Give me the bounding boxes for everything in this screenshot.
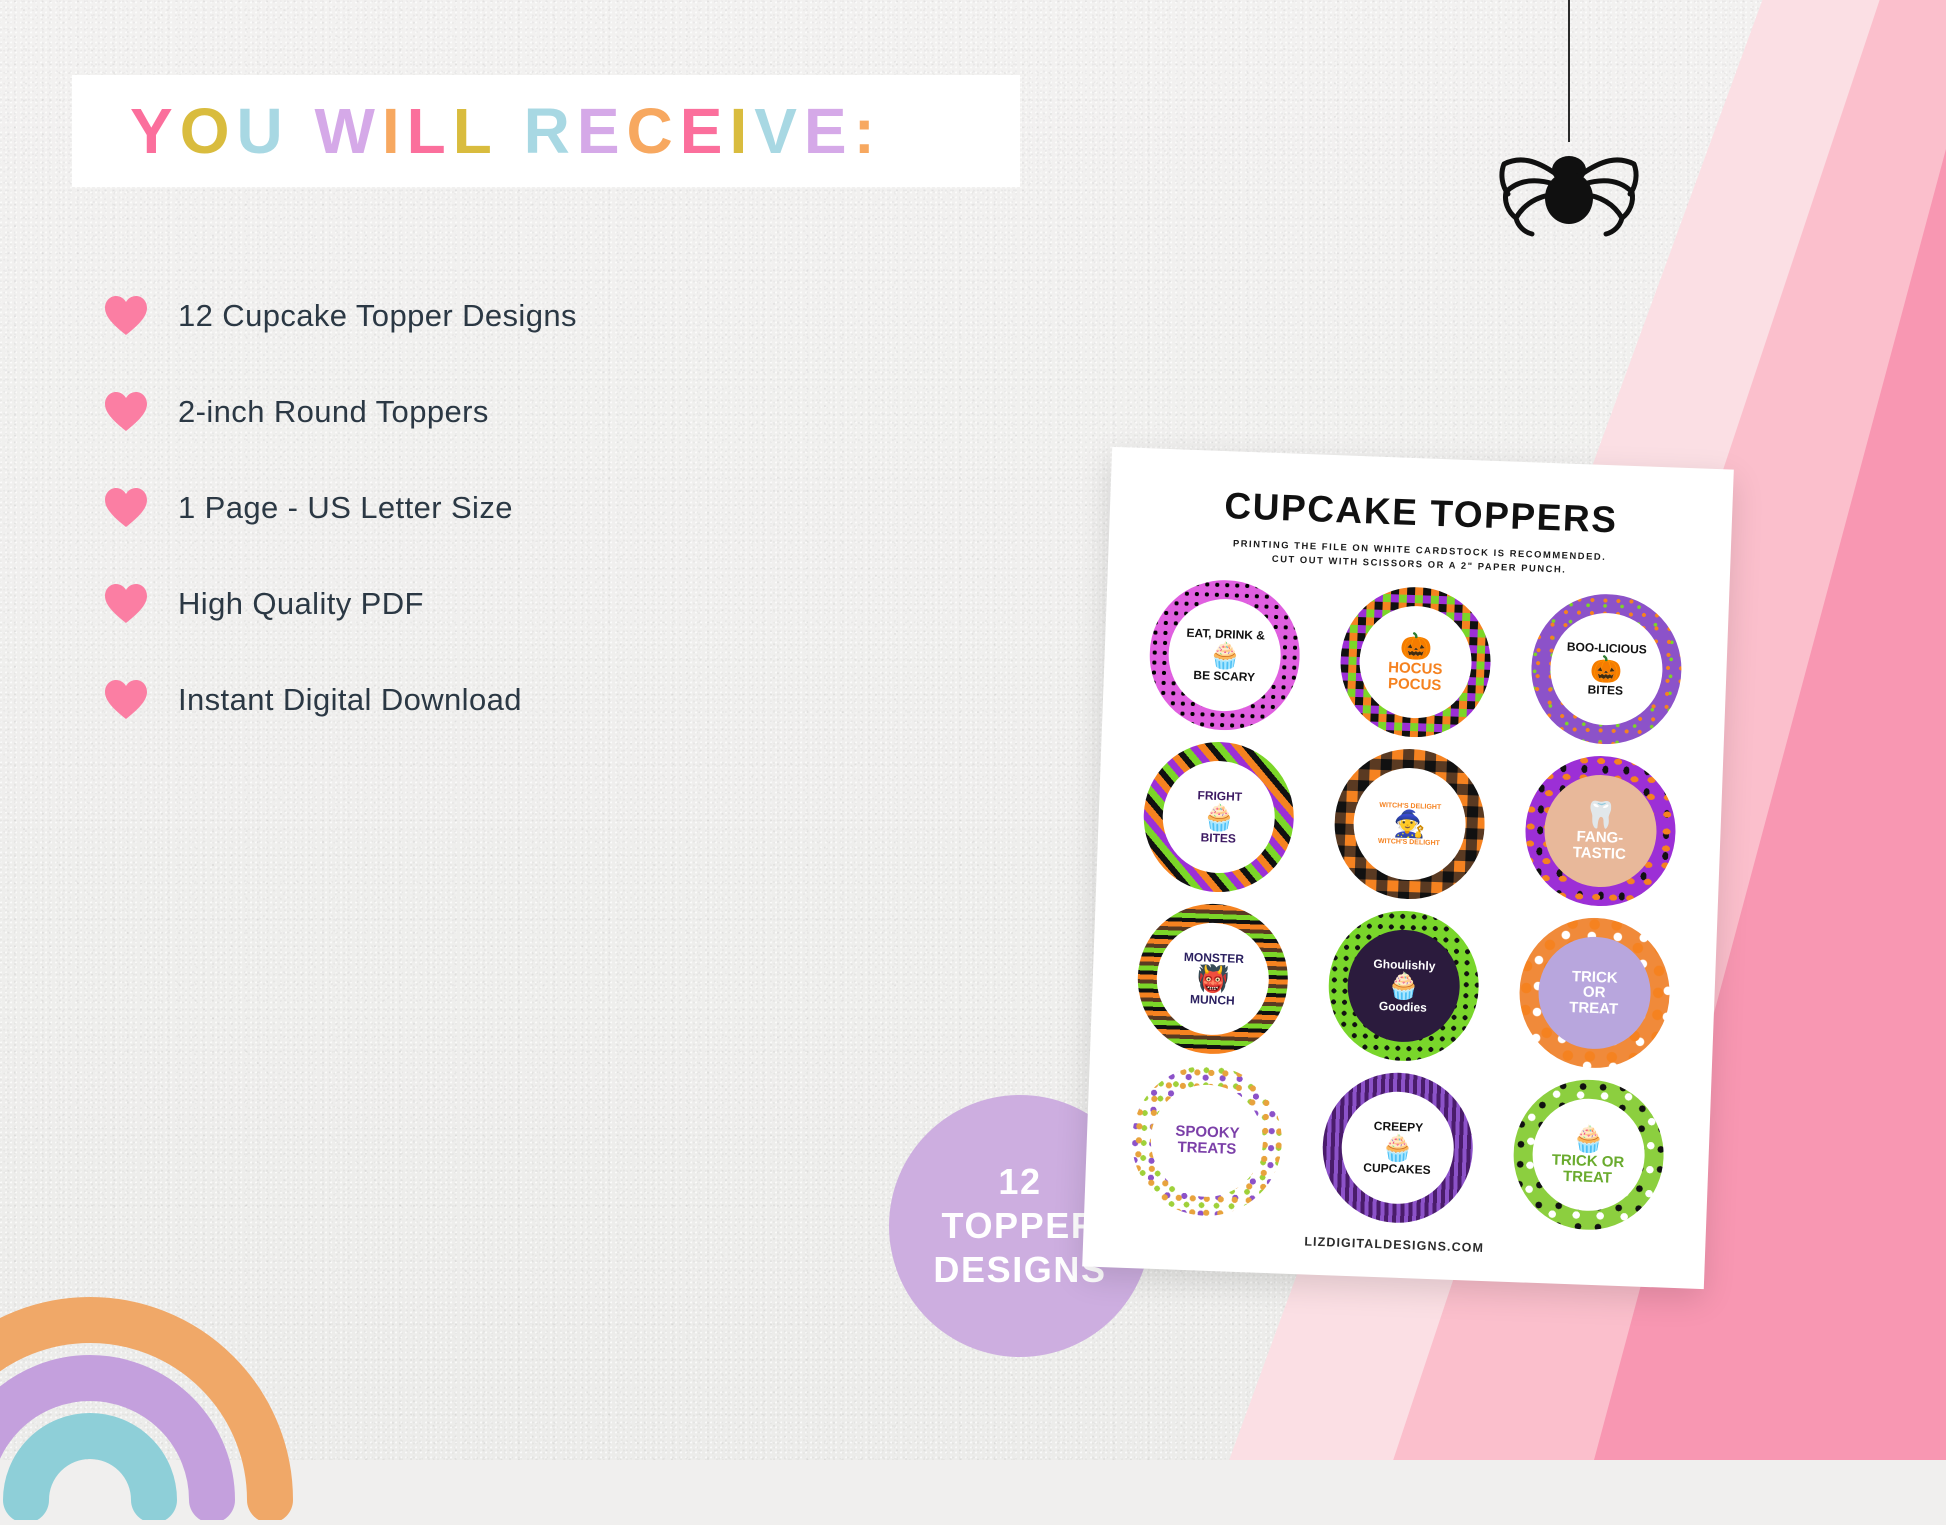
- topper-main-text: TRICK OR TREAT: [1569, 969, 1620, 1018]
- feature-row-0: 12 Cupcake Topper Designs: [104, 268, 864, 364]
- topper-artwork: 🎃: [1399, 632, 1432, 662]
- topper-eat-drink-be-scary: EAT, DRINK &🧁BE SCARY: [1147, 578, 1302, 733]
- title-letter-9: R: [524, 99, 577, 163]
- topper-hocus-pocus: 🎃HOCUS POCUS: [1338, 585, 1493, 740]
- feature-label: 2-inch Round Toppers: [178, 394, 489, 430]
- topper-spooky-treats: SPOOKY TREATS: [1129, 1063, 1284, 1218]
- topper-artwork: 👹: [1196, 964, 1229, 994]
- topper-main-text: HOCUS POCUS: [1387, 660, 1442, 693]
- feature-label: 12 Cupcake Topper Designs: [178, 298, 577, 334]
- topper-inner: BOO-LICIOUS🎃BITES: [1548, 611, 1664, 727]
- title-letter-12: E: [680, 99, 730, 163]
- topper-bottom-text: BITES: [1587, 683, 1623, 697]
- title-letter-4: W: [314, 99, 381, 163]
- topper-main-text: TRICK OR TREAT: [1551, 1152, 1625, 1186]
- topper-artwork: 🎃: [1589, 654, 1622, 684]
- title-letter-16: :: [854, 99, 882, 163]
- spider-thread: [1568, 0, 1570, 142]
- topper-inner: MONSTER👹MUNCH: [1155, 921, 1271, 1037]
- topper-artwork: 🧁: [1381, 1133, 1414, 1163]
- topper-bottom-text: MUNCH: [1190, 993, 1235, 1007]
- title-letter-11: C: [627, 99, 680, 163]
- topper-artwork: 🧁: [1572, 1124, 1605, 1154]
- topper-monster-munch: MONSTER👹MUNCH: [1135, 901, 1290, 1056]
- topper-inner: EAT, DRINK &🧁BE SCARY: [1167, 597, 1283, 713]
- topper-artwork: 🧁: [1208, 640, 1241, 670]
- topper-trick-or-treat-green: 🧁TRICK OR TREAT: [1511, 1077, 1666, 1232]
- badge-line-3: DESIGNS: [933, 1248, 1106, 1292]
- feature-list: 12 Cupcake Topper Designs2-inch Round To…: [104, 268, 864, 748]
- title-letter-15: E: [804, 99, 854, 163]
- feature-label: Instant Digital Download: [178, 682, 522, 718]
- topper-inner: 🎃HOCUS POCUS: [1358, 604, 1474, 720]
- topper-inner: FRIGHT🧁BITES: [1161, 759, 1277, 875]
- title-letter-8: [499, 99, 524, 163]
- heart-icon: [104, 487, 148, 529]
- title-letter-10: E: [577, 99, 627, 163]
- topper-artwork: 🦷: [1584, 801, 1617, 831]
- sheet-footer-url: LIZDIGITALDESIGNS.COM: [1083, 1226, 1705, 1263]
- topper-witchs-delight: WITCH'S DELIGHT🧙WITCH'S DELIGHT: [1332, 747, 1487, 902]
- feature-row-1: 2-inch Round Toppers: [104, 364, 864, 460]
- topper-inner: WITCH'S DELIGHT🧙WITCH'S DELIGHT: [1352, 766, 1468, 882]
- rainbow-decoration: [0, 1100, 300, 1520]
- title-letter-3: [290, 99, 315, 163]
- topper-artwork: 🧁: [1202, 802, 1235, 832]
- topper-inner: SPOOKY TREATS: [1149, 1083, 1265, 1199]
- feature-row-3: High Quality PDF: [104, 556, 864, 652]
- title-letter-14: V: [754, 99, 804, 163]
- topper-creepy-cupcakes: CREEPY🧁CUPCAKES: [1320, 1070, 1475, 1225]
- topper-bottom-text: WITCH'S DELIGHT: [1378, 837, 1440, 847]
- feature-row-4: Instant Digital Download: [104, 652, 864, 748]
- topper-inner: CREEPY🧁CUPCAKES: [1340, 1090, 1456, 1206]
- heart-icon: [104, 583, 148, 625]
- mockup-sheet: CUPCAKE TOPPERS PRINTING THE FILE ON WHI…: [1082, 447, 1734, 1289]
- title-letter-6: L: [407, 99, 453, 163]
- topper-bottom-text: BE SCARY: [1193, 669, 1255, 684]
- heart-icon: [104, 391, 148, 433]
- topper-trick-or-treat-purple: TRICK OR TREAT: [1516, 915, 1671, 1070]
- feature-label: High Quality PDF: [178, 586, 424, 622]
- topper-bottom-text: Goodies: [1379, 1000, 1427, 1014]
- topper-inner: TRICK OR TREAT: [1536, 935, 1652, 1051]
- heart-icon: [104, 295, 148, 337]
- badge-line-1: 12: [998, 1160, 1041, 1204]
- title-letter-5: I: [382, 99, 407, 163]
- feature-row-2: 1 Page - US Letter Size: [104, 460, 864, 556]
- topper-boo-licious-bites: BOO-LICIOUS🎃BITES: [1528, 592, 1683, 747]
- topper-grid: EAT, DRINK &🧁BE SCARY🎃HOCUS POCUSBOO-LIC…: [1114, 577, 1699, 1233]
- topper-artwork: 🧙: [1393, 809, 1426, 839]
- title-band: YOU WILL RECEIVE:: [72, 75, 1020, 187]
- badge-line-2: TOPPER: [942, 1204, 1099, 1248]
- heart-icon: [104, 679, 148, 721]
- topper-main-text: FANG- TASTIC: [1573, 829, 1627, 862]
- title-letter-7: L: [453, 99, 499, 163]
- title-letter-0: Y: [130, 99, 180, 163]
- title-letter-1: O: [180, 99, 237, 163]
- topper-main-text: SPOOKY TREATS: [1175, 1124, 1240, 1158]
- topper-bottom-text: BITES: [1200, 831, 1236, 845]
- spider-icon: [1498, 130, 1640, 238]
- topper-inner: Ghoulishly🧁Goodies: [1346, 928, 1462, 1044]
- topper-fang-tastic: 🦷FANG- TASTIC: [1522, 754, 1677, 909]
- topper-bottom-text: CUPCAKES: [1363, 1161, 1431, 1176]
- title-letter-13: I: [729, 99, 754, 163]
- page-title: YOU WILL RECEIVE:: [130, 99, 882, 163]
- topper-ghoulishly-goodies: Ghoulishly🧁Goodies: [1326, 908, 1481, 1063]
- topper-fright-bites: FRIGHT🧁BITES: [1141, 740, 1296, 895]
- topper-inner: 🦷FANG- TASTIC: [1542, 773, 1658, 889]
- topper-artwork: 🧁: [1387, 971, 1420, 1001]
- topper-inner: 🧁TRICK OR TREAT: [1530, 1097, 1646, 1213]
- title-letter-2: U: [236, 99, 289, 163]
- feature-label: 1 Page - US Letter Size: [178, 490, 513, 526]
